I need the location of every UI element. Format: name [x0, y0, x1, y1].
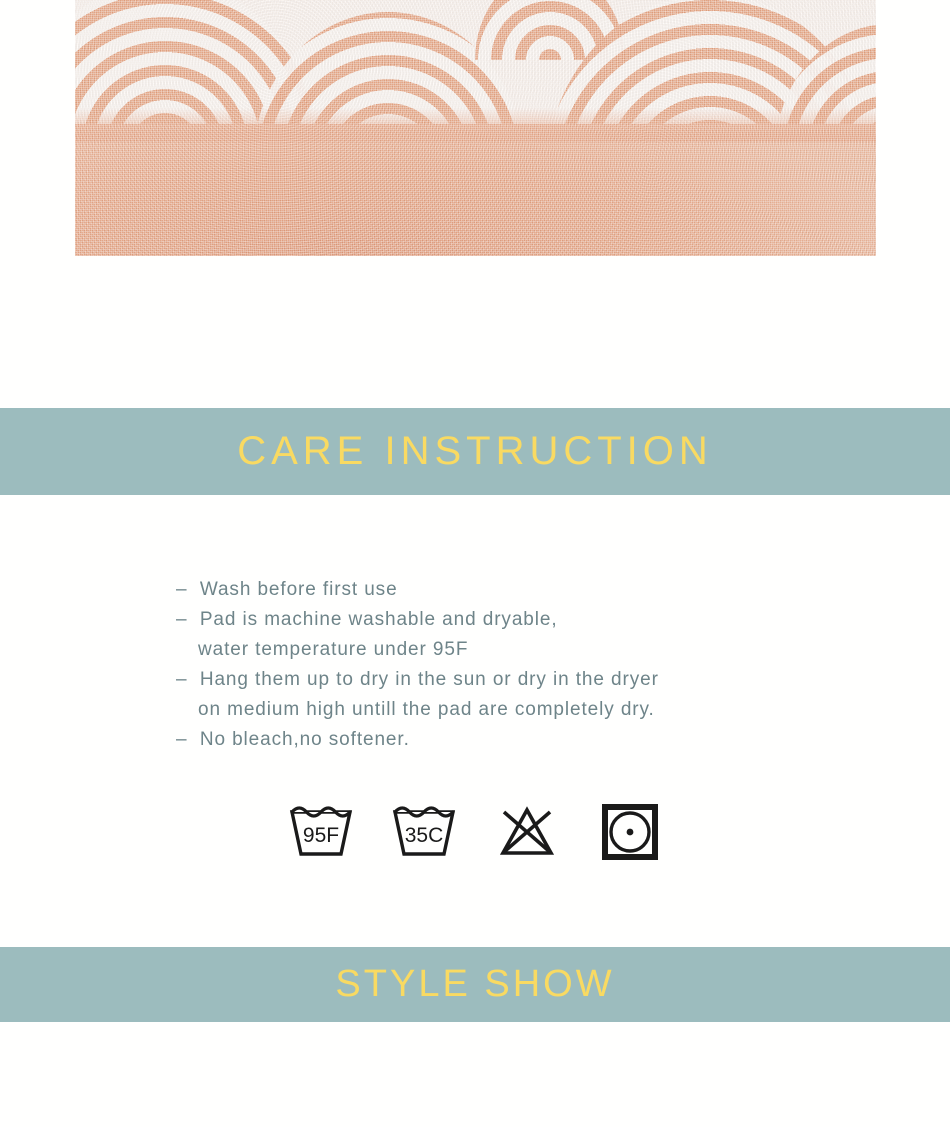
style-show-banner: STYLE SHOW — [0, 947, 950, 1022]
product-hero-image — [75, 0, 876, 256]
care-instruction-line: – Pad is machine washable and dryable, — [176, 605, 659, 635]
terry-loop-overlay — [75, 0, 876, 256]
style-show-title: STYLE SHOW — [335, 963, 614, 1006]
tumble-dry-low-icon — [595, 800, 665, 864]
fabric-texture-photo — [75, 0, 876, 256]
care-instruction-title: CARE INSTRUCTION — [237, 429, 713, 474]
care-instruction-line: water temperature under 95F — [176, 635, 659, 665]
wash-tub-95f-label: 95F — [302, 824, 338, 847]
do-not-bleach-icon — [492, 800, 562, 864]
care-instruction-line: – Hang them up to dry in the sun or dry … — [176, 665, 659, 695]
care-instruction-banner: CARE INSTRUCTION — [0, 408, 950, 495]
wash-tub-35c-icon: 35C — [389, 800, 459, 864]
care-instruction-line: – Wash before first use — [176, 575, 659, 605]
care-instruction-line: on medium high untill the pad are comple… — [176, 695, 659, 725]
care-instruction-line: – No bleach,no softener. — [176, 725, 659, 755]
care-symbol-row: 95F 35C — [0, 800, 950, 864]
wash-tub-95f-icon: 95F — [286, 800, 356, 864]
wash-tub-35c-label: 35C — [404, 824, 443, 847]
care-instruction-list: – Wash before first use – Pad is machine… — [176, 575, 659, 755]
